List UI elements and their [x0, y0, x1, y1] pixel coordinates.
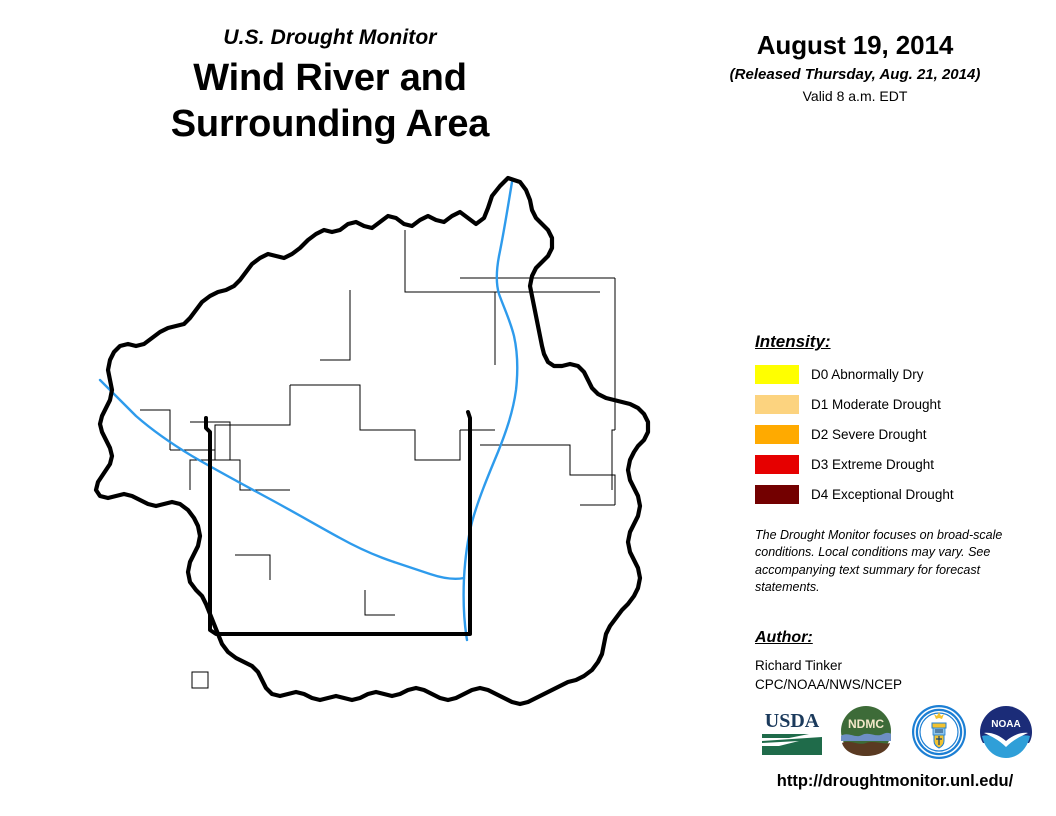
- legend-item-d1: D1 Moderate Drought: [755, 393, 1035, 415]
- legend-swatch-d1: [755, 395, 799, 414]
- author-affiliation: CPC/NOAA/NWS/NCEP: [755, 675, 1035, 694]
- wind-river: [100, 182, 517, 640]
- legend-item-d3: D3 Extreme Drought: [755, 453, 1035, 475]
- legend-item-d4: D4 Exceptional Drought: [755, 483, 1035, 505]
- legend-label-d2: D2 Severe Drought: [811, 427, 927, 442]
- release-date: (Released Thursday, Aug. 21, 2014): [690, 66, 1020, 83]
- author-block: Author: Richard Tinker CPC/NOAA/NWS/NCEP: [755, 629, 1035, 694]
- reservation-boundary: [206, 412, 470, 634]
- legend-label-d3: D3 Extreme Drought: [811, 457, 934, 472]
- valid-time: Valid 8 a.m. EDT: [690, 88, 1020, 104]
- drought-map: [40, 160, 730, 760]
- legend-label-d4: D4 Exceptional Drought: [811, 487, 954, 502]
- disclaimer-text: The Drought Monitor focuses on broad-sca…: [755, 527, 1023, 596]
- title-block: U.S. Drought Monitor Wind River and Surr…: [0, 26, 660, 148]
- legend-title: Intensity:: [755, 332, 1035, 352]
- agency-logos: USDA NDMC: [755, 703, 1035, 765]
- legend-swatch-d4: [755, 485, 799, 504]
- legend-label-d0: D0 Abnormally Dry: [811, 367, 924, 382]
- nws-logo[interactable]: [910, 703, 968, 766]
- noaa-logo[interactable]: NOAA: [977, 703, 1035, 766]
- website-url[interactable]: http://droughtmonitor.unl.edu/: [745, 772, 1045, 791]
- usda-logo[interactable]: USDA: [759, 703, 825, 764]
- map-detail-notch: [192, 672, 208, 688]
- ndmc-logo-text: NDMC: [848, 717, 884, 731]
- legend-item-d0: D0 Abnormally Dry: [755, 363, 1035, 385]
- page-title-line1: Wind River and: [0, 55, 660, 101]
- valid-date: August 19, 2014: [690, 30, 1020, 61]
- page-title-line2: Surrounding Area: [0, 101, 660, 147]
- legend-item-d2: D2 Severe Drought: [755, 423, 1035, 445]
- page-title: Wind River and Surrounding Area: [0, 55, 660, 148]
- date-block: August 19, 2014 (Released Thursday, Aug.…: [690, 30, 1020, 104]
- author-heading: Author:: [755, 629, 1035, 647]
- program-label: U.S. Drought Monitor: [0, 26, 660, 49]
- legend-swatch-d0: [755, 365, 799, 384]
- legend: Intensity: D0 Abnormally Dry D1 Moderate…: [755, 332, 1035, 513]
- basin-boundary: [96, 178, 648, 704]
- author-name: Richard Tinker: [755, 656, 1035, 675]
- legend-label-d1: D1 Moderate Drought: [811, 397, 941, 412]
- noaa-logo-text: NOAA: [991, 719, 1020, 730]
- legend-swatch-d2: [755, 425, 799, 444]
- usda-logo-text: USDA: [765, 710, 820, 732]
- legend-swatch-d3: [755, 455, 799, 474]
- ndmc-logo[interactable]: NDMC: [838, 703, 894, 764]
